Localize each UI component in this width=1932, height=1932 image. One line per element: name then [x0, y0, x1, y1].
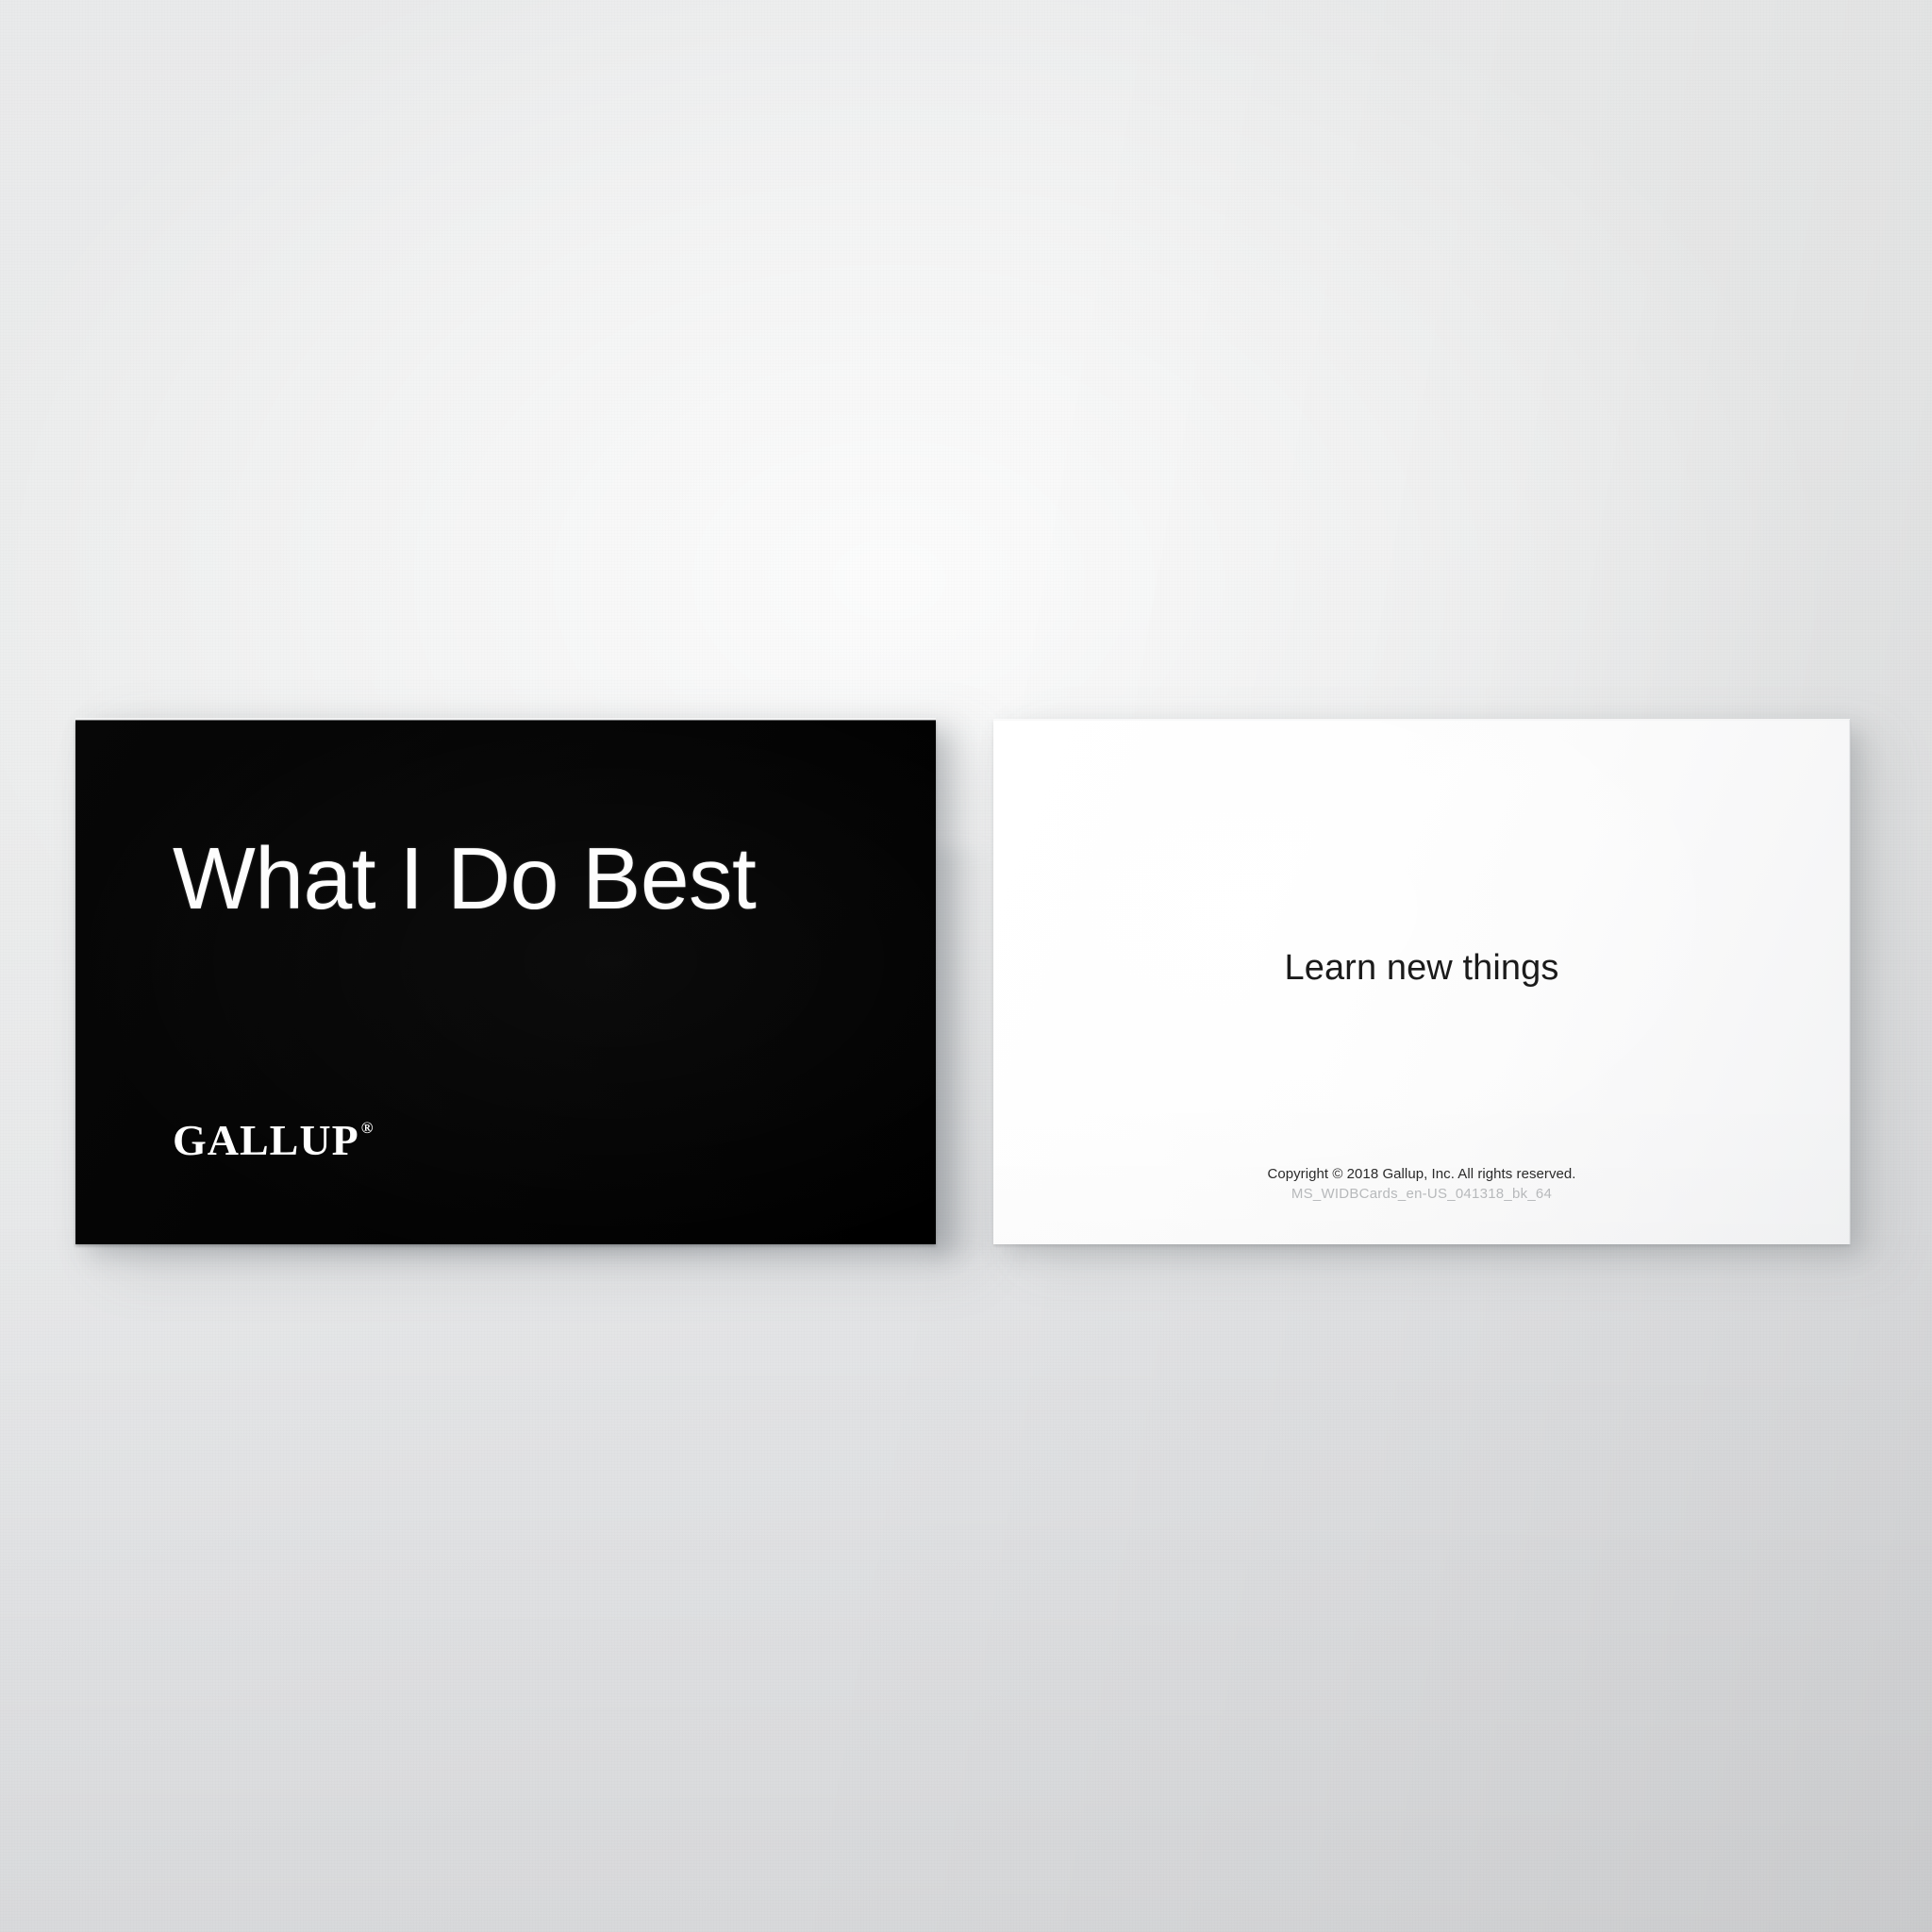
- gallup-logo: GALLUP®: [173, 1119, 372, 1162]
- back-card-top-edge: [993, 719, 1850, 721]
- front-card-top-edge: [75, 718, 936, 721]
- back-card-footer: Copyright © 2018 Gallup, Inc. All rights…: [993, 1164, 1850, 1206]
- gallup-wordmark: GALLUP: [173, 1119, 359, 1162]
- front-card[interactable]: What I Do Best GALLUP®: [75, 720, 936, 1244]
- copyright-line: Copyright © 2018 Gallup, Inc. All rights…: [993, 1164, 1850, 1185]
- registered-trademark-icon: ®: [361, 1120, 375, 1136]
- front-card-sheen: [75, 720, 936, 1244]
- front-card-title: What I Do Best: [173, 835, 756, 923]
- photo-scene: What I Do Best GALLUP® Learn new things …: [0, 0, 1932, 1932]
- document-id-line: MS_WIDBCards_en-US_041318_bk_64: [993, 1184, 1850, 1205]
- back-card[interactable]: Learn new things Copyright © 2018 Gallup…: [993, 720, 1850, 1244]
- strength-statement: Learn new things: [993, 950, 1850, 986]
